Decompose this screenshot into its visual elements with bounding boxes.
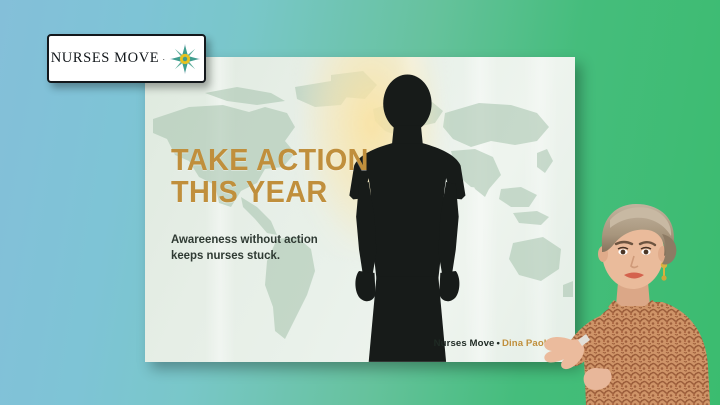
slide-headline: TAKE ACTION THIS YEAR	[171, 144, 369, 207]
nurses-move-logo-badge: NURSES MOVE ·	[47, 34, 206, 83]
compass-rose-icon	[168, 42, 202, 76]
nurse-silhouette	[330, 63, 485, 362]
presentation-slide: TAKE ACTION THIS YEAR Awareeness without…	[145, 57, 575, 362]
subhead-line-1: Awareeness without action	[171, 232, 318, 247]
presenter-photo	[534, 190, 720, 405]
logo-separator: ·	[162, 54, 165, 64]
slide-subhead: Awareeness without action keeps nurses s…	[171, 232, 318, 262]
logo-text: NURSES MOVE	[51, 50, 160, 67]
credit-separator: •	[494, 338, 501, 349]
subhead-line-2: keeps nurses stuck.	[171, 248, 318, 263]
headline-line-2: THIS YEAR	[171, 176, 369, 208]
headline-line-1: TAKE ACTION	[171, 144, 369, 176]
credit-brand: Nurses Move	[434, 338, 495, 349]
